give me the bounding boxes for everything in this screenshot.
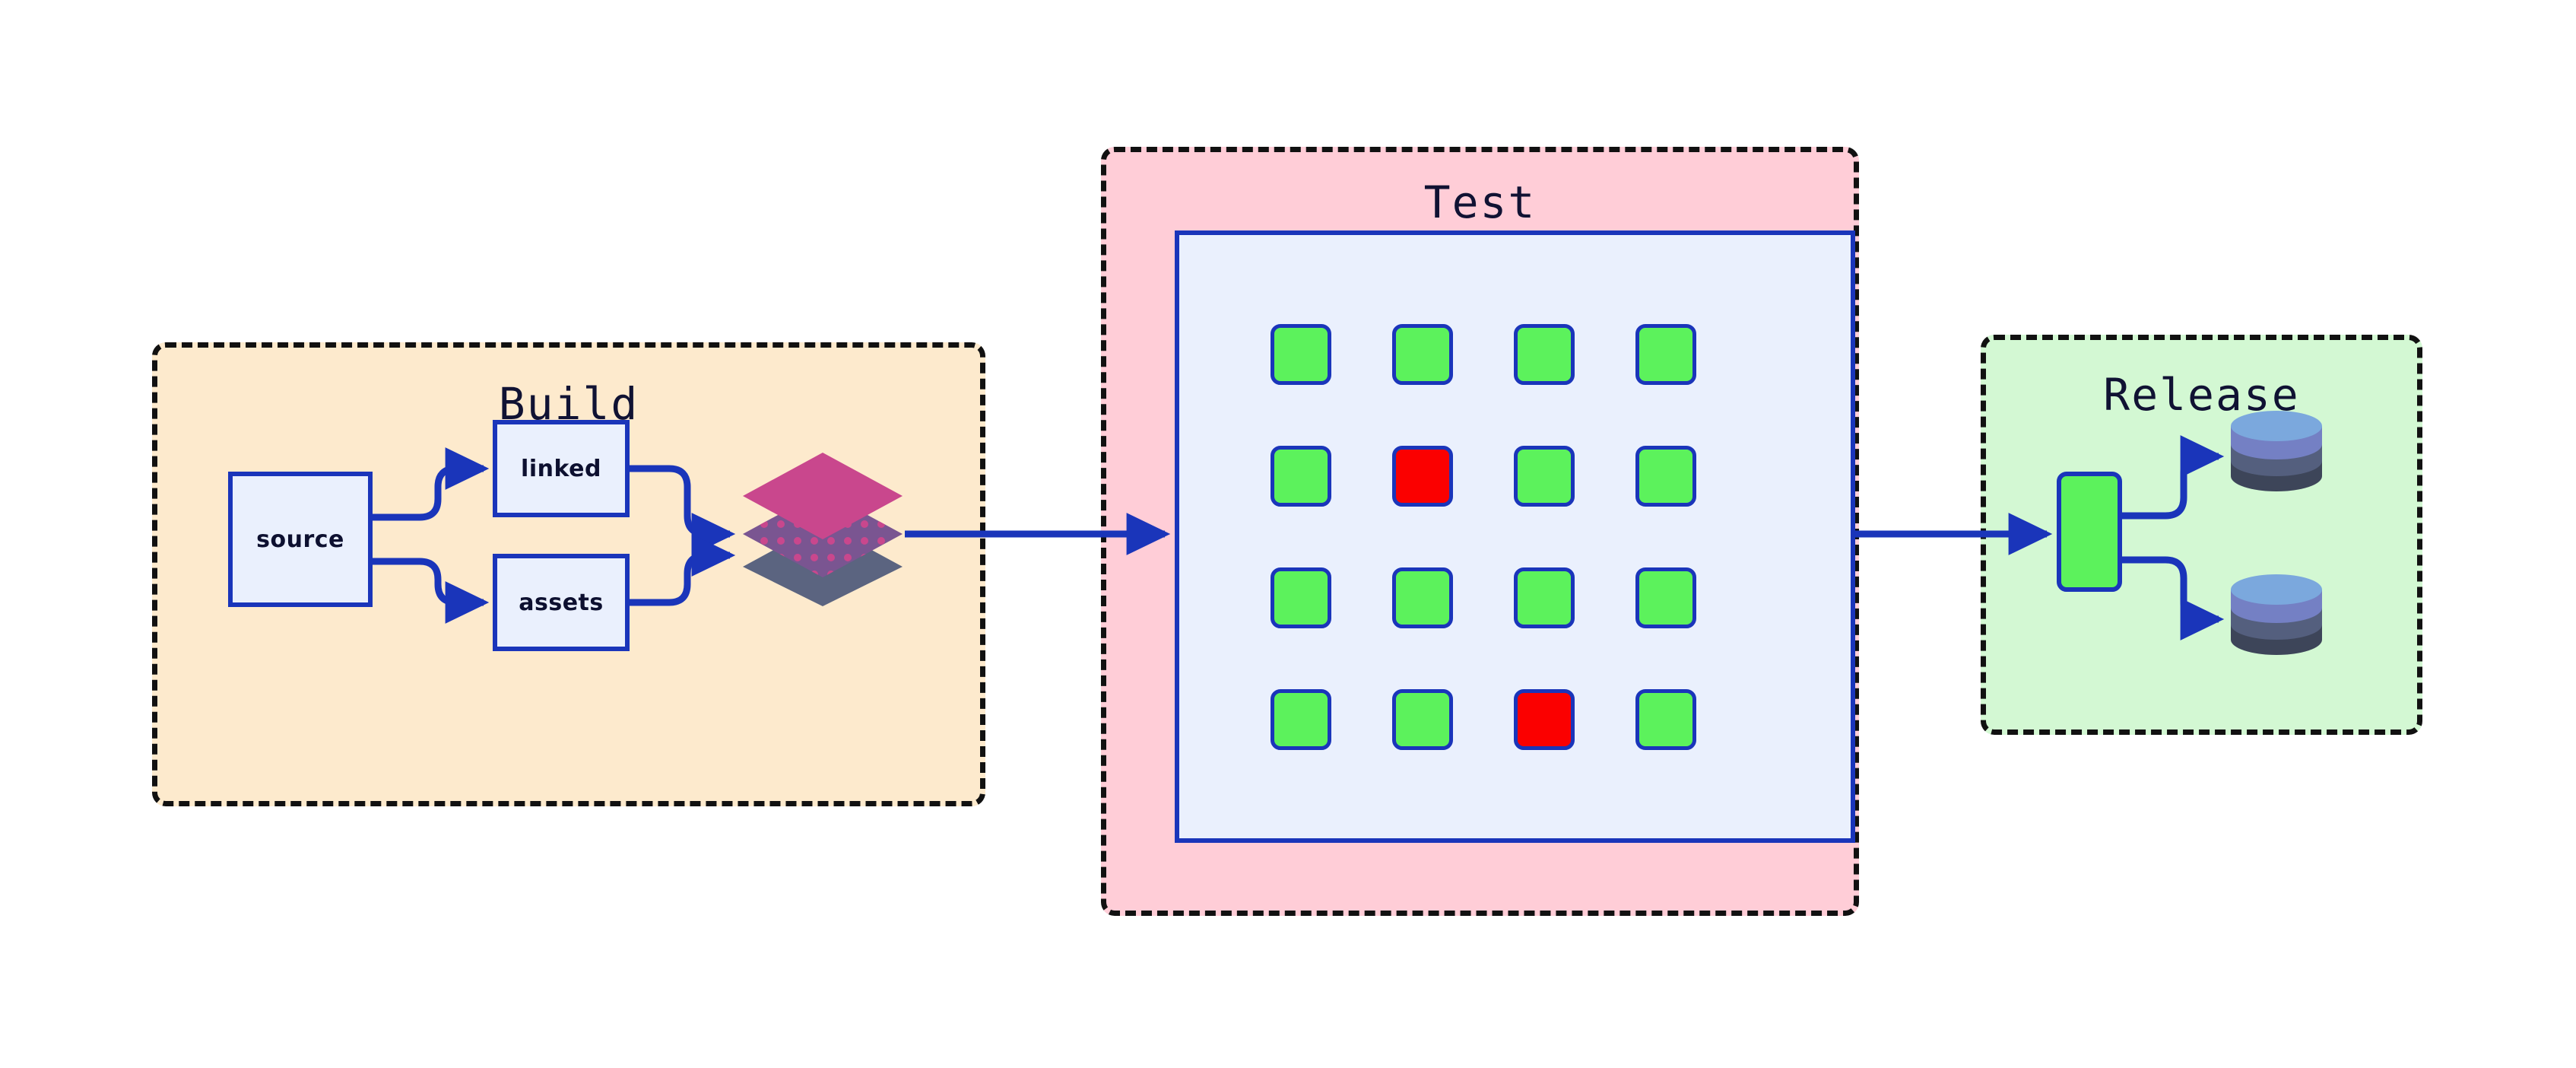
test-cell-pass[interactable] <box>1635 446 1696 507</box>
node-source-label: source <box>256 526 344 553</box>
database-icon[interactable] <box>2228 409 2325 491</box>
zone-test-title: Test <box>1106 176 1854 228</box>
test-cell-pass[interactable] <box>1635 567 1696 628</box>
node-assets-label: assets <box>519 590 604 616</box>
test-cell-pass[interactable] <box>1271 689 1331 750</box>
database-icon[interactable] <box>2228 573 2325 655</box>
test-cell-pass[interactable] <box>1392 324 1453 385</box>
test-cell-pass[interactable] <box>1514 324 1575 385</box>
node-assets[interactable]: assets <box>493 554 630 651</box>
test-cell-pass[interactable] <box>1392 567 1453 628</box>
zone-release[interactable]: Release <box>1981 335 2422 735</box>
test-cell-pass[interactable] <box>1271 446 1331 507</box>
test-cell-pass[interactable] <box>1271 324 1331 385</box>
layers-icon[interactable] <box>739 449 906 609</box>
node-source[interactable]: source <box>228 472 373 607</box>
test-cell-pass[interactable] <box>1514 567 1575 628</box>
test-cell-pass[interactable] <box>1392 689 1453 750</box>
test-cell-pass[interactable] <box>1514 446 1575 507</box>
test-results-panel[interactable] <box>1175 230 1855 843</box>
node-linked[interactable]: linked <box>493 420 630 517</box>
test-cell-pass[interactable] <box>1635 689 1696 750</box>
release-artifact[interactable] <box>2057 472 2122 592</box>
test-cell-fail[interactable] <box>1392 446 1453 507</box>
zone-release-title: Release <box>1986 369 2417 421</box>
diagram-canvas: Build source linked assets Test <box>0 0 2576 1068</box>
test-cell-pass[interactable] <box>1635 324 1696 385</box>
node-linked-label: linked <box>521 456 601 482</box>
test-cell-fail[interactable] <box>1514 689 1575 750</box>
test-cell-pass[interactable] <box>1271 567 1331 628</box>
